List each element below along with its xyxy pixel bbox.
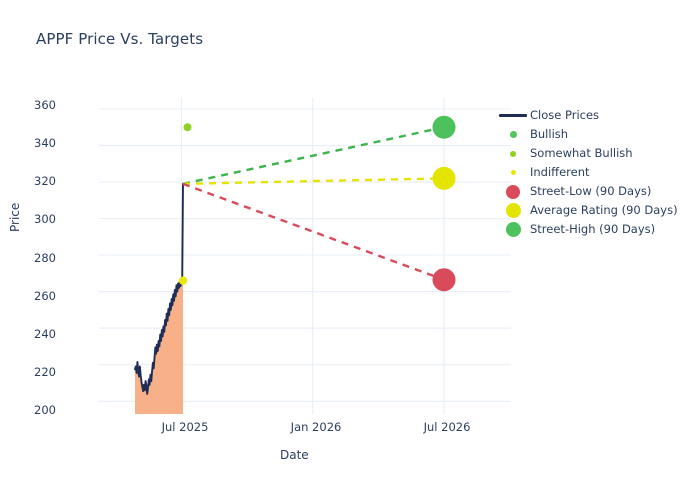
legend-item-label: Close Prices — [530, 109, 599, 122]
legend-dot-icon — [496, 203, 530, 218]
x-axis-title: Date — [280, 448, 309, 462]
legend-dot-icon — [496, 222, 530, 237]
legend-item-label: Street-Low (90 Days) — [530, 185, 651, 198]
chart-title: APPF Price Vs. Targets — [36, 30, 203, 48]
y-tick-label: 320 — [0, 174, 56, 188]
legend-item-label: Bullish — [530, 128, 568, 141]
y-tick-label: 260 — [0, 289, 56, 303]
y-tick-label: 200 — [0, 403, 56, 417]
legend-item[interactable]: Bullish — [496, 125, 696, 144]
legend-item[interactable]: Somewhat Bullish — [496, 144, 696, 163]
y-tick-label: 340 — [0, 136, 56, 150]
chart-legend: Close PricesBullishSomewhat BullishIndif… — [496, 106, 696, 239]
legend-item-label: Street-High (90 Days) — [530, 223, 655, 236]
y-tick-label: 360 — [0, 98, 56, 112]
legend-item-label: Indifferent — [530, 166, 590, 179]
legend-line-icon — [496, 114, 530, 117]
x-tick-label: Jul 2026 — [424, 420, 471, 434]
legend-item[interactable]: Street-High (90 Days) — [496, 220, 696, 239]
legend-item[interactable]: Street-Low (90 Days) — [496, 182, 696, 201]
legend-dot-icon — [496, 185, 530, 199]
plot-area — [0, 0, 700, 500]
x-tick-label: Jan 2026 — [291, 420, 342, 434]
legend-dot-icon — [496, 131, 530, 138]
y-tick-label: 280 — [0, 251, 56, 265]
y-tick-label: 240 — [0, 327, 56, 341]
chart-container: APPF Price Vs. Targets Price Date 360 34… — [0, 0, 700, 500]
legend-item[interactable]: Indifferent — [496, 163, 696, 182]
series-layer — [135, 116, 456, 414]
legend-item[interactable]: Close Prices — [496, 106, 696, 125]
legend-item-label: Average Rating (90 Days) — [530, 204, 678, 217]
legend-item-label: Somewhat Bullish — [530, 147, 633, 160]
legend-dot-icon — [496, 170, 530, 175]
x-tick-label: Jul 2025 — [162, 420, 209, 434]
y-tick-label: 220 — [0, 365, 56, 379]
legend-dot-icon — [496, 151, 530, 157]
y-tick-label: 300 — [0, 212, 56, 226]
legend-item[interactable]: Average Rating (90 Days) — [496, 201, 696, 220]
